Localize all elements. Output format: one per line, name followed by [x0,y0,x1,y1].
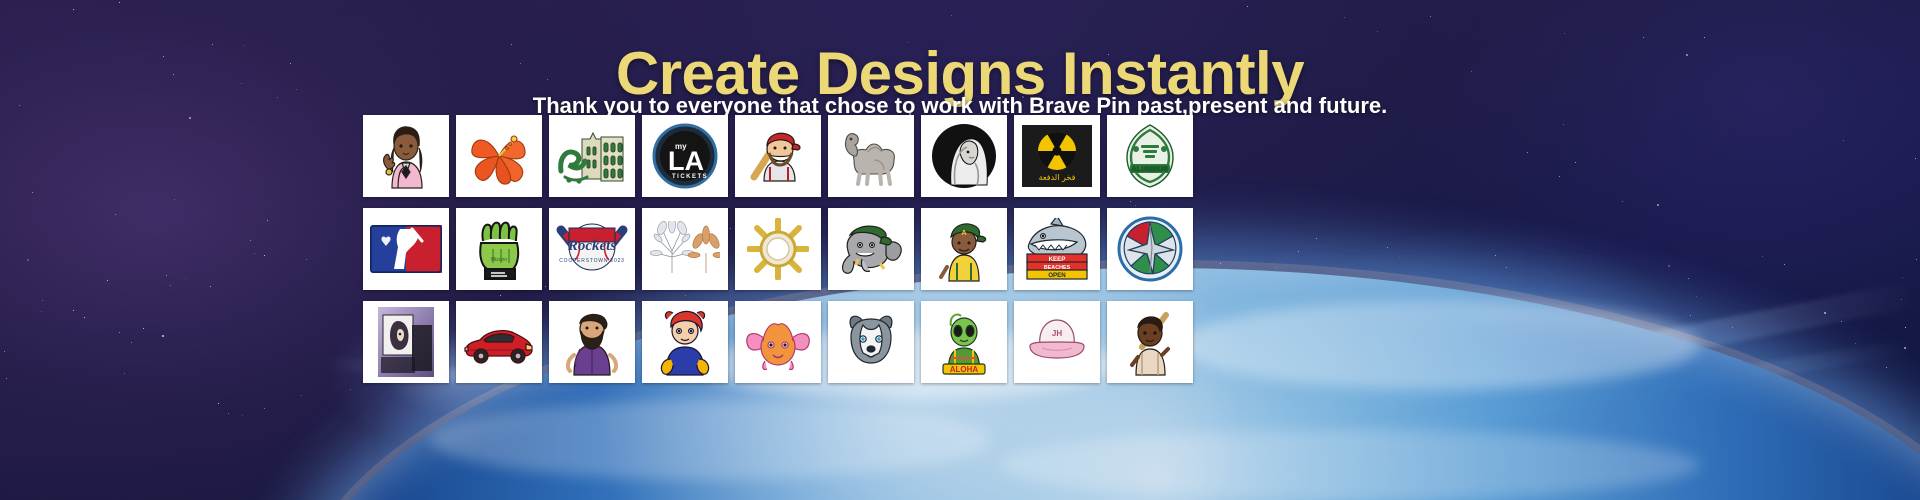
pink-bucket-hat-pin[interactable]: JH [1014,301,1100,383]
green-batting-glove-pin[interactable]: Mizuno [456,208,542,290]
aloha-alien-pin[interactable]: ALOHA [921,301,1007,383]
svg-text:ALOHA: ALOHA [950,365,979,374]
promo-banner: Create Designs Instantly Thank you to ev… [0,0,1920,500]
hooded-figure-pin[interactable] [921,115,1007,197]
rhinestone-leaf-pin[interactable] [642,208,728,290]
bearded-man-pin[interactable] [549,301,635,383]
red-sports-car-pin[interactable] [456,301,542,383]
my-la-tickets-pin[interactable]: myLATICKETS [642,115,728,197]
orange-hibiscus-flower-pin[interactable] [456,115,542,197]
baseball-mascot-pin[interactable] [735,115,821,197]
svg-text:Mizuno: Mizuno [491,257,507,263]
portrait-photo-frame-pin[interactable] [363,301,449,383]
svg-text:فخر الدفعة: فخر الدفعة [1039,173,1076,182]
baseball-player-pin[interactable]: A [921,208,1007,290]
mlb-silhouette-pin[interactable] [363,208,449,290]
svg-text:OPEN: OPEN [1048,272,1066,279]
fighter-jet-roundel-pin[interactable] [1107,208,1193,290]
rockets-baseball-pin[interactable]: RocketsCOOPERSTOWN 2023 [549,208,635,290]
svg-text:ALUMNUS: ALUMNUS [1132,166,1169,173]
camel-pin[interactable] [828,115,914,197]
husky-dog-pin[interactable] [828,301,914,383]
svg-text:LA: LA [668,146,704,176]
elephant-mascot-pin[interactable] [828,208,914,290]
anime-character-pin[interactable] [642,301,728,383]
pin-gallery-grid: myLATICKETSفخر الدفعةALUMNUSMizunoRocket… [363,115,1199,383]
radiation-symbol-pin[interactable]: فخر الدفعة [1014,115,1100,197]
keep-beaches-open-shark-pin[interactable]: KEEPBEACHESOPEN [1014,208,1100,290]
svg-text:A: A [961,230,966,237]
svg-text:COOPERSTOWN 2023: COOPERSTOWN 2023 [559,258,625,264]
svg-text:Rockets: Rockets [567,238,616,254]
woman-in-pink-blazer-pin[interactable] [363,115,449,197]
pink-winged-creature-pin[interactable] [735,301,821,383]
svg-text:TICKETS: TICKETS [672,174,708,180]
baseball-kid-pin[interactable] [1107,301,1193,383]
gold-starburst-ring-pin[interactable] [735,208,821,290]
svg-text:JH: JH [1052,329,1062,338]
alumnus-crest-pin[interactable]: ALUMNUS [1107,115,1193,197]
green-building-crest-pin[interactable] [549,115,635,197]
